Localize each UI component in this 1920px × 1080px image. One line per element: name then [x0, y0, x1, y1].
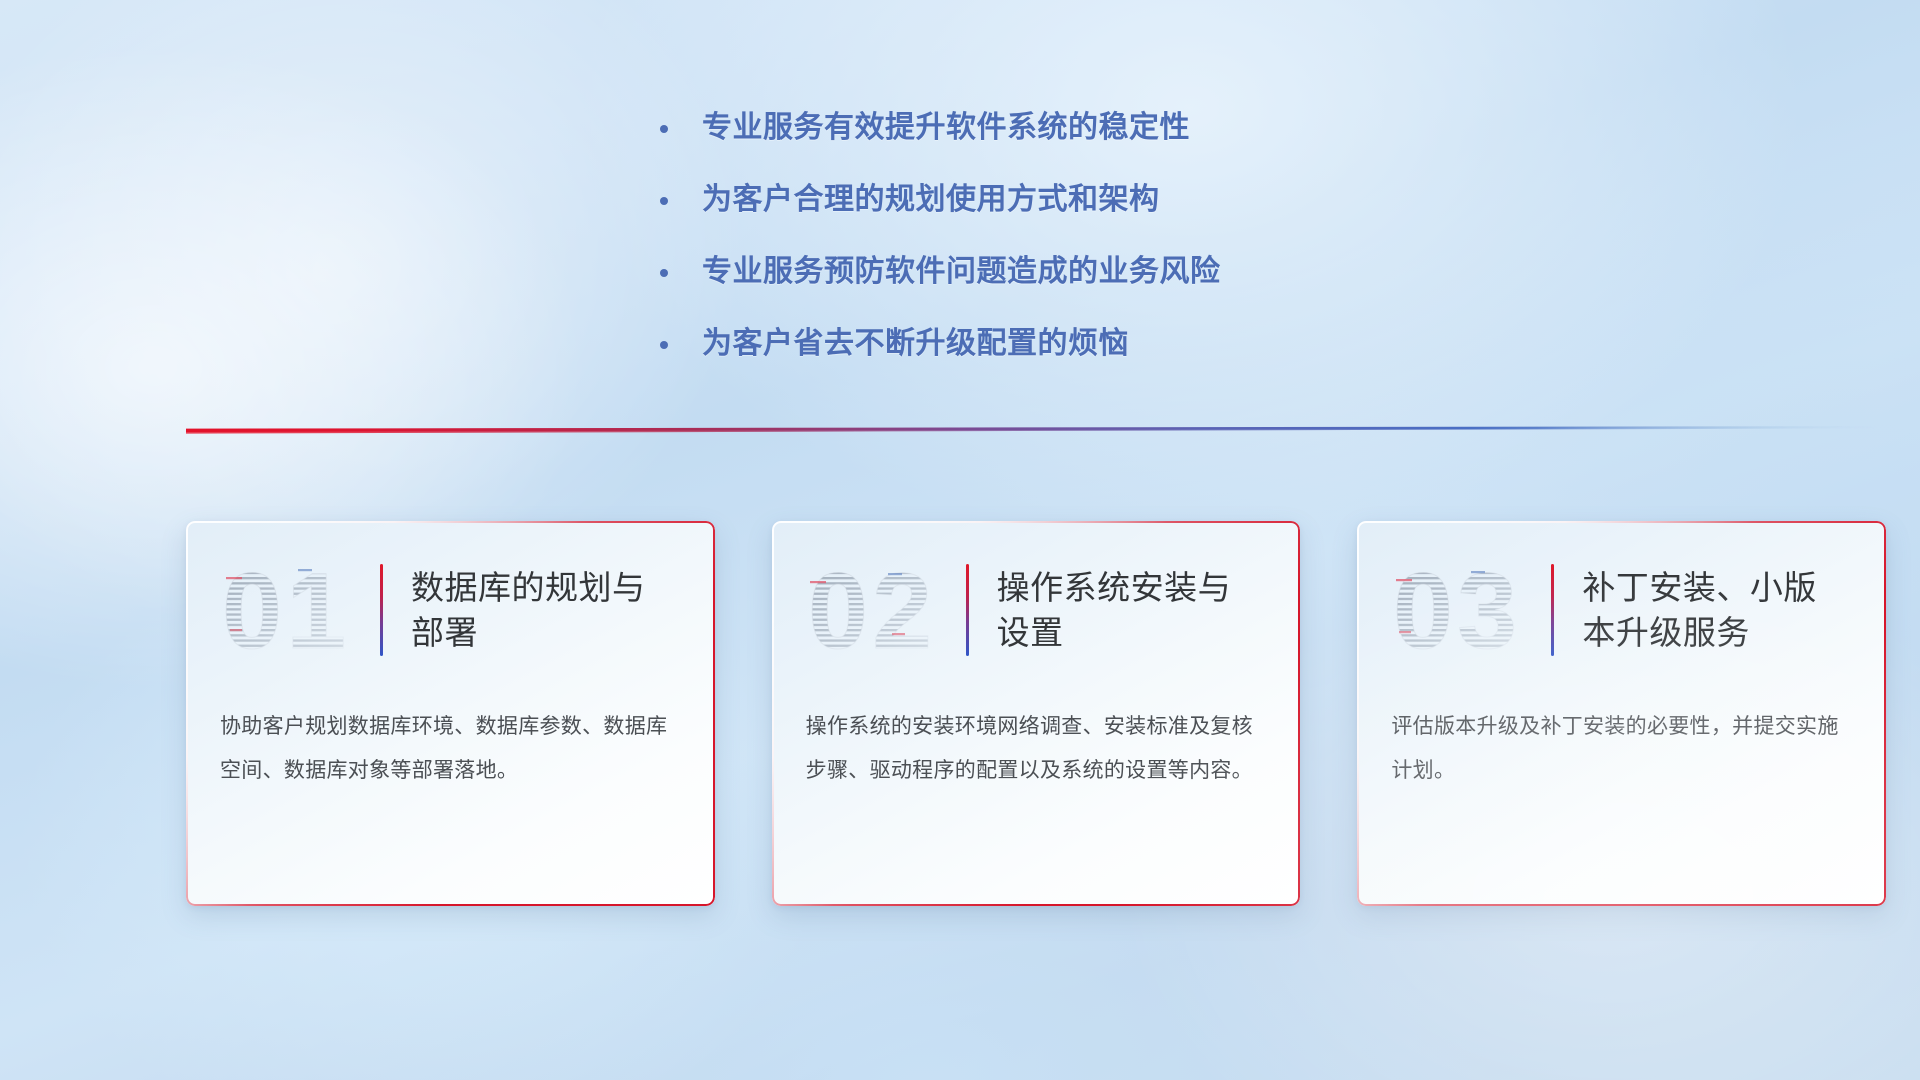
- benefits-bullet-list: 专业服务有效提升软件系统的稳定性 为客户合理的规划使用方式和架构 专业服务预防软…: [660, 108, 1460, 396]
- bullet-dot-icon: [660, 197, 668, 205]
- svg-text:02: 02: [808, 551, 936, 669]
- section-divider: [186, 420, 1876, 442]
- service-card[interactable]: 03 03 补丁安装、小版本升级服务 评估版本升级及补丁安装的必要性，并提交实施…: [1357, 521, 1886, 906]
- bullet-text: 为客户省去不断升级配置的烦恼: [702, 324, 1460, 364]
- bullet-dot-icon: [660, 341, 668, 349]
- list-item: 为客户合理的规划使用方式和架构: [660, 180, 1460, 220]
- card-number-02-icon: 02 02: [806, 551, 956, 669]
- card-title: 补丁安装、小版本升级服务: [1582, 565, 1850, 655]
- bullet-text: 专业服务有效提升软件系统的稳定性: [702, 108, 1460, 148]
- bullet-text: 专业服务预防软件问题造成的业务风险: [702, 252, 1460, 292]
- card-number-03-icon: 03 03: [1391, 551, 1541, 669]
- service-card[interactable]: 02 02 操作系统安装与设置 操作系统的安装环境网络调查、安装标准及复核步骤、…: [772, 521, 1301, 906]
- card-number-01-icon: 01 01: [220, 551, 370, 669]
- card-body-text: 评估版本升级及补丁安装的必要性，并提交实施计划。: [1357, 671, 1886, 793]
- card-divider-bar: [966, 564, 969, 656]
- list-item: 专业服务预防软件问题造成的业务风险: [660, 252, 1460, 292]
- svg-text:01: 01: [222, 551, 350, 669]
- card-header: 03 03 补丁安装、小版本升级服务: [1357, 521, 1886, 671]
- bullet-dot-icon: [660, 125, 668, 133]
- card-title: 操作系统安装与设置: [997, 565, 1265, 655]
- list-item: 专业服务有效提升软件系统的稳定性: [660, 108, 1460, 148]
- card-body-text: 操作系统的安装环境网络调查、安装标准及复核步骤、驱动程序的配置以及系统的设置等内…: [772, 671, 1301, 793]
- list-item: 为客户省去不断升级配置的烦恼: [660, 324, 1460, 364]
- service-card[interactable]: 01 01 数据库的规划与部署 协助客户规划数据库环境、数据库参数、数据库空间、…: [186, 521, 715, 906]
- service-card-row: 01 01 数据库的规划与部署 协助客户规划数据库环境、数据库参数、数据库空间、…: [186, 521, 1886, 906]
- card-header: 02 02 操作系统安装与设置: [772, 521, 1301, 671]
- bullet-text: 为客户合理的规划使用方式和架构: [702, 180, 1460, 220]
- card-header: 01 01 数据库的规划与部署: [186, 521, 715, 671]
- card-divider-bar: [1551, 564, 1554, 656]
- bullet-dot-icon: [660, 269, 668, 277]
- card-divider-bar: [380, 564, 383, 656]
- card-title: 数据库的规划与部署: [411, 565, 679, 655]
- slide-canvas: 专业服务有效提升软件系统的稳定性 为客户合理的规划使用方式和架构 专业服务预防软…: [0, 0, 1920, 1080]
- card-body-text: 协助客户规划数据库环境、数据库参数、数据库空间、数据库对象等部署落地。: [186, 671, 715, 793]
- svg-text:03: 03: [1393, 551, 1521, 669]
